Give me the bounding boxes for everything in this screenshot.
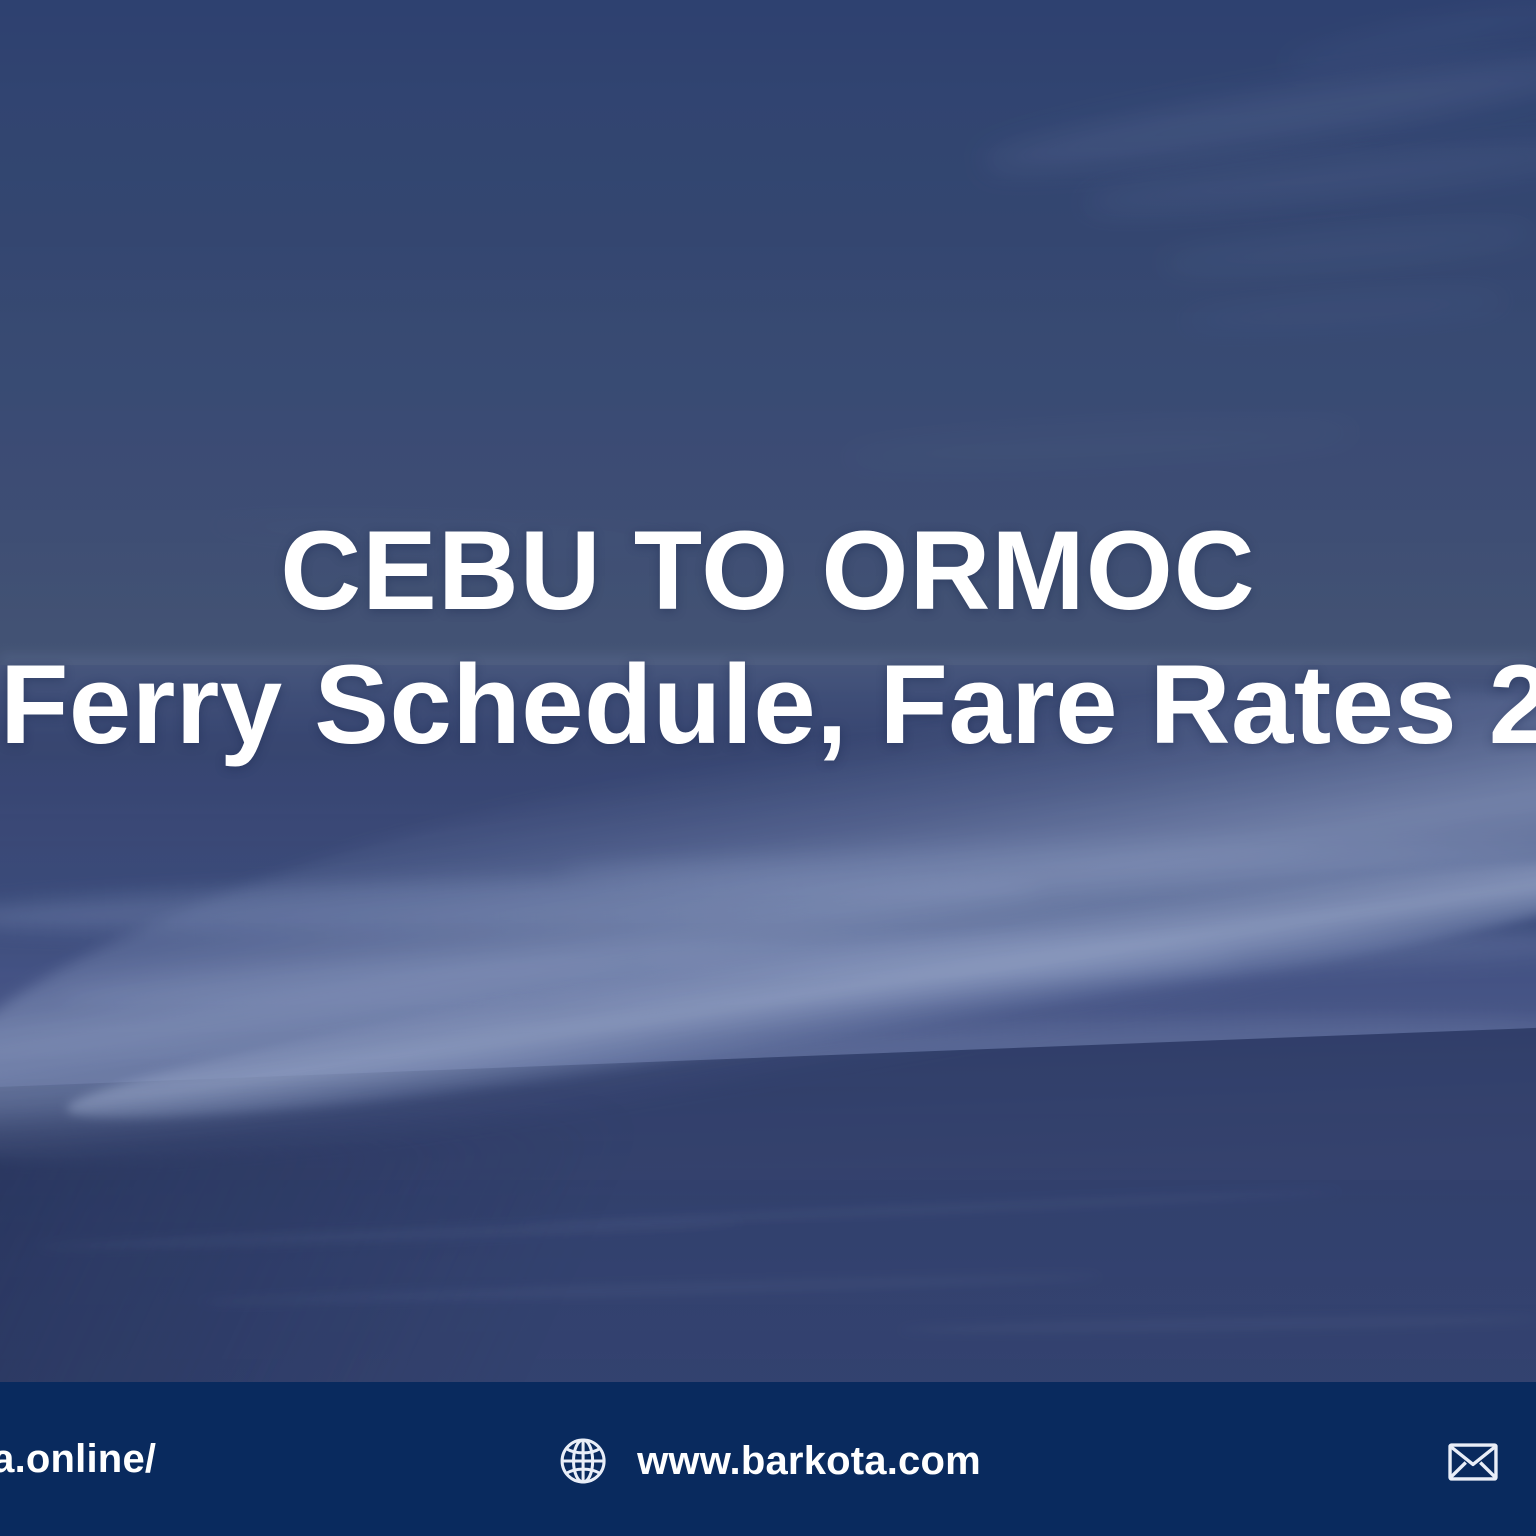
promo-banner: CEBU TO ORMOC Ferry Schedule, Fare Rates… [0,0,1536,1536]
footer-website-url: www.barkota.com [637,1439,981,1484]
background-photo [0,0,1536,1536]
footer-booking-url: ota.online/ [0,1437,156,1482]
footer-website[interactable]: www.barkota.com [555,1433,981,1489]
envelope-icon [1444,1433,1502,1491]
globe-icon [555,1433,611,1489]
footer-email-link[interactable] [1444,1433,1502,1491]
footer-booking-link[interactable]: ota.online/ [0,1432,156,1486]
footer-bar: ota.online/ www.barkota.com [0,1382,1536,1536]
